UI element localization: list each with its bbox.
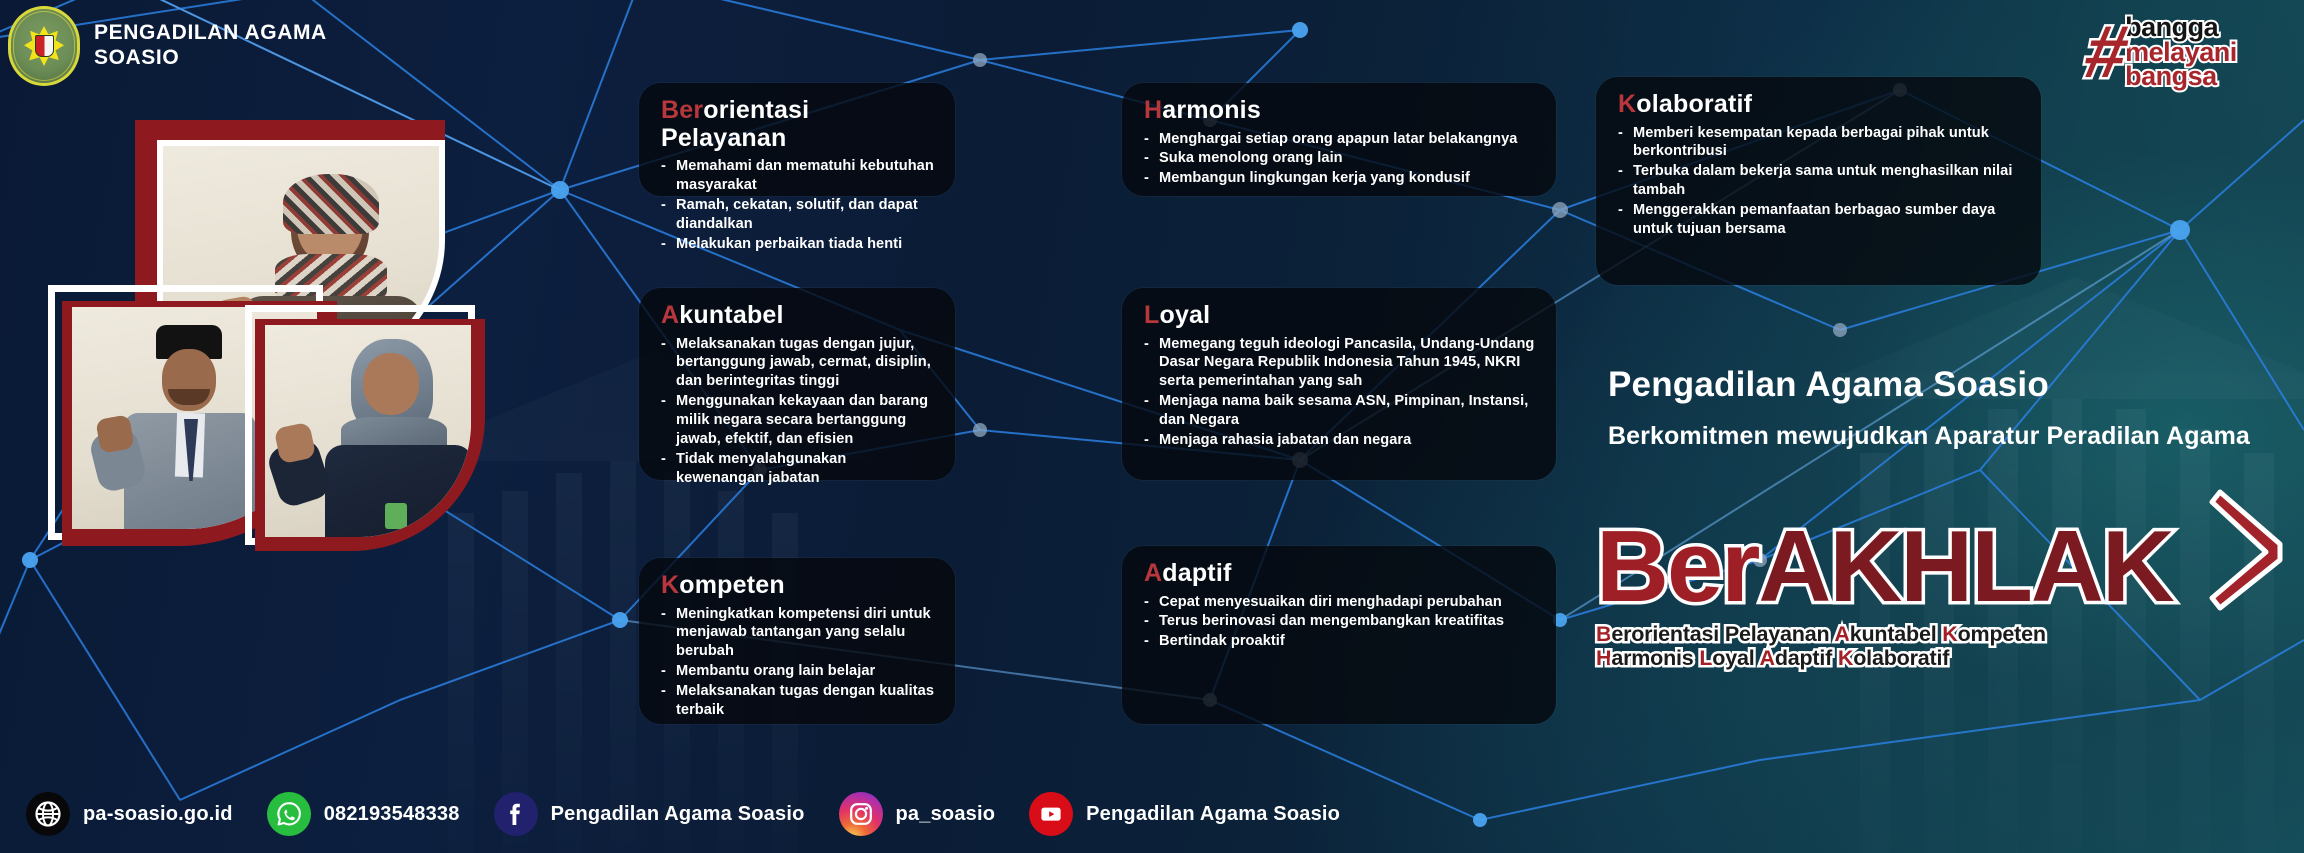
- footer-item-facebook[interactable]: Pengadilan Agama Soasio: [494, 792, 805, 836]
- value-card-loyal[interactable]: Loyal Memegang teguh ideologi Pancasila,…: [1122, 288, 1556, 480]
- value-card-list: Melaksanakan tugas dengan jujur, bertang…: [661, 335, 935, 489]
- list-item: Membantu orang lain belajar: [661, 662, 935, 681]
- list-item: Memegang teguh ideologi Pancasila, Undan…: [1144, 335, 1536, 392]
- value-card-title: Akuntabel: [661, 302, 935, 330]
- value-card-kompeten[interactable]: Kompeten Meningkatkan kompetensi diri un…: [639, 558, 955, 724]
- footer-item-youtube[interactable]: Pengadilan Agama Soasio: [1029, 792, 1340, 836]
- page-title: Pengadilan Agama Soasio: [1608, 365, 2268, 405]
- footer-label: pa-soasio.go.id: [83, 803, 233, 826]
- berakhlak-logo: BerAKHLAK Berorientasi Pelayanan Akuntab…: [1596, 520, 2286, 670]
- staff-photo-woman-bottom-right: [245, 305, 475, 545]
- footer-item-whatsapp[interactable]: 082193548338: [267, 792, 460, 836]
- brand-line-2: SOASIO: [94, 46, 327, 71]
- value-card-harmonis[interactable]: Harmonis Menghargai setiap orang apapun …: [1122, 83, 1556, 196]
- list-item: Menjaga rahasia jabatan dan negara: [1144, 431, 1536, 450]
- bangga-word-1: bangga: [2125, 15, 2237, 40]
- value-card-akuntabel[interactable]: Akuntabel Melaksanakan tugas dengan juju…: [639, 288, 955, 480]
- banner-canvas: PENGADILAN AGAMA SOASIO # bangga melayan…: [0, 0, 2304, 853]
- bangga-melayani-bangsa-logo: # bangga melayani bangsa: [2086, 4, 2292, 100]
- right-panel-text: Pengadilan Agama Soasio Berkomitmen mewu…: [1608, 365, 2268, 451]
- value-card-berorientasi-pelayanan[interactable]: Berorientasi Pelayanan Memahami dan mema…: [639, 83, 955, 196]
- berakhlak-sub-line-2: Harmonis Loyal Adaptif Kolaboratif: [1596, 646, 2286, 670]
- value-card-title: Adaptif: [1144, 560, 1536, 588]
- value-card-list: Meningkatkan kompetensi diri untuk menja…: [661, 605, 935, 721]
- list-item: Terus berinovasi dan mengembangkan kreat…: [1144, 612, 1536, 631]
- brand-title: PENGADILAN AGAMA SOASIO: [94, 21, 327, 71]
- value-card-list: Menghargai setiap orang apapun latar bel…: [1144, 130, 1536, 189]
- value-card-list: Memegang teguh ideologi Pancasila, Undan…: [1144, 335, 1536, 451]
- footer-contact-bar: pa-soasio.go.id 082193548338 Pengadilan …: [0, 775, 2304, 853]
- value-card-kolaboratif[interactable]: Kolaboratif Memberi kesempatan kepada be…: [1596, 77, 2041, 285]
- court-seal-icon: [8, 6, 80, 86]
- list-item: Memberi kesempatan kepada berbagai pihak…: [1618, 124, 2021, 162]
- list-item: Melaksanakan tugas dengan kualitas terba…: [661, 682, 935, 720]
- list-item: Menghargai setiap orang apapun latar bel…: [1144, 130, 1536, 149]
- list-item: Tidak menyalahgunakan kewenangan jabatan: [661, 450, 935, 488]
- website-globe-icon: [26, 792, 70, 836]
- list-item: Bertindak proaktif: [1144, 632, 1536, 651]
- list-item: Meningkatkan kompetensi diri untuk menja…: [661, 605, 935, 662]
- list-item: Menggunakan kekayaan dan barang milik ne…: [661, 392, 935, 449]
- brand-header: PENGADILAN AGAMA SOASIO: [8, 6, 327, 86]
- value-card-adaptif[interactable]: Adaptif Cepat menyesuaikan diri menghada…: [1122, 546, 1556, 724]
- value-card-title: Kolaboratif: [1618, 91, 2021, 119]
- value-card-title: Harmonis: [1144, 97, 1536, 125]
- list-item: Memahami dan mematuhi kebutuhan masyarak…: [661, 157, 935, 195]
- value-card-list: Memahami dan mematuhi kebutuhan masyarak…: [661, 157, 935, 254]
- facebook-icon: [494, 792, 538, 836]
- list-item: Melaksanakan tugas dengan jujur, bertang…: [661, 335, 935, 392]
- value-card-list: Memberi kesempatan kepada berbagai pihak…: [1618, 124, 2021, 240]
- berakhlak-sub-line-1: Berorientasi Pelayanan Akuntabel Kompete…: [1596, 622, 2286, 646]
- list-item: Membangun lingkungan kerja yang kondusif: [1144, 169, 1536, 188]
- whatsapp-icon: [267, 792, 311, 836]
- page-subtitle: Berkomitmen mewujudkan Aparatur Peradila…: [1608, 421, 2268, 451]
- list-item: Menggerakkan pemanfaatan berbagao sumber…: [1618, 201, 2021, 239]
- value-card-title: Berorientasi Pelayanan: [661, 97, 935, 152]
- footer-label: pa_soasio: [896, 803, 996, 826]
- value-card-title: Kompeten: [661, 572, 935, 600]
- footer-label: 082193548338: [324, 803, 460, 826]
- list-item: Melakukan perbaikan tiada henti: [661, 235, 935, 254]
- footer-item-website[interactable]: pa-soasio.go.id: [26, 792, 233, 836]
- value-card-list: Cepat menyesuaikan diri menghadapi perub…: [1144, 593, 1536, 652]
- footer-label: Pengadilan Agama Soasio: [1086, 803, 1340, 826]
- staff-photo-collage: [40, 110, 460, 510]
- footer-item-instagram[interactable]: pa_soasio: [839, 792, 996, 836]
- youtube-icon: [1029, 792, 1073, 836]
- list-item: Menjaga nama baik sesama ASN, Pimpinan, …: [1144, 392, 1536, 430]
- value-card-title: Loyal: [1144, 302, 1536, 330]
- brand-line-1: PENGADILAN AGAMA: [94, 21, 327, 46]
- list-item: Suka menolong orang lain: [1144, 149, 1536, 168]
- bangga-word-3: bangsa: [2125, 64, 2237, 89]
- instagram-icon: [839, 792, 883, 836]
- berakhlak-wordmark: BerAKHLAK: [1596, 520, 2286, 616]
- footer-label: Pengadilan Agama Soasio: [551, 803, 805, 826]
- list-item: Ramah, cekatan, solutif, dan dapat diand…: [661, 196, 935, 234]
- list-item: Cepat menyesuaikan diri menghadapi perub…: [1144, 593, 1536, 612]
- list-item: Terbuka dalam bekerja sama untuk menghas…: [1618, 162, 2021, 200]
